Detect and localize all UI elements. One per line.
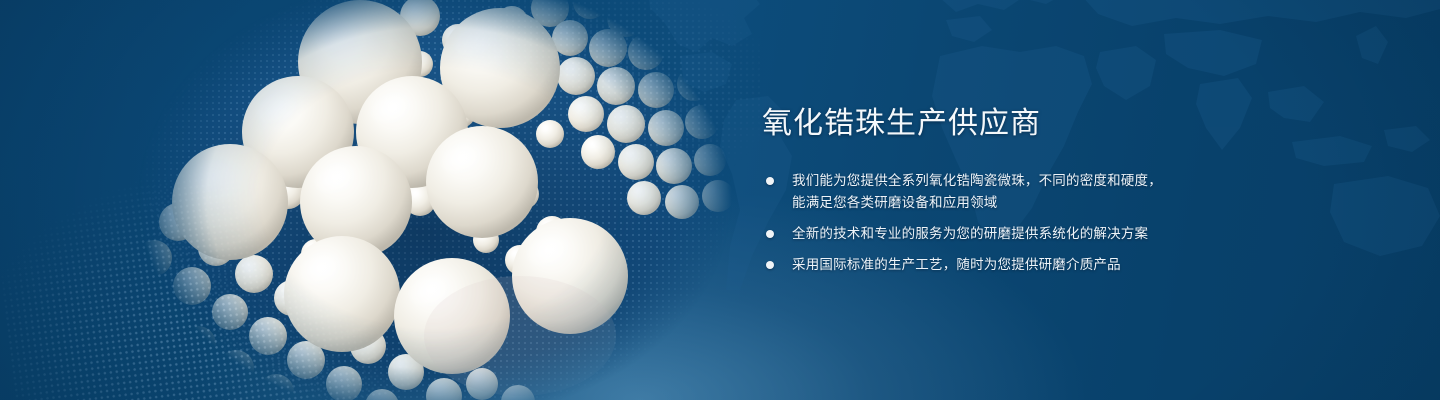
feature-list: 我们能为您提供全系列氧化锆陶瓷微珠，不同的密度和硬度， 能满足您各类研磨设备和应… — [762, 170, 1222, 276]
bullet-dot-icon — [766, 177, 774, 185]
bullet-dot-icon — [766, 230, 774, 238]
list-item-line: 能满足您各类研磨设备和应用领域 — [792, 192, 1222, 214]
list-item: 我们能为您提供全系列氧化锆陶瓷微珠，不同的密度和硬度， 能满足您各类研磨设备和应… — [762, 170, 1222, 214]
background-vignette — [0, 0, 1440, 400]
list-item-line: 全新的技术和专业的服务为您的研磨提供系统化的解决方案 — [792, 223, 1222, 245]
list-item-line: 我们能为您提供全系列氧化锆陶瓷微珠，不同的密度和硬度， — [792, 170, 1222, 192]
list-item-line: 采用国际标准的生产工艺，随时为您提供研磨介质产品 — [792, 254, 1222, 276]
banner-copy: 氧化锆珠生产供应商 我们能为您提供全系列氧化锆陶瓷微珠，不同的密度和硬度， 能满… — [762, 104, 1222, 276]
list-item: 全新的技术和专业的服务为您的研磨提供系统化的解决方案 — [762, 223, 1222, 245]
list-item: 采用国际标准的生产工艺，随时为您提供研磨介质产品 — [762, 254, 1222, 276]
bullet-dot-icon — [766, 261, 774, 269]
hero-banner: 氧化锆珠生产供应商 我们能为您提供全系列氧化锆陶瓷微珠，不同的密度和硬度， 能满… — [0, 0, 1440, 400]
page-title: 氧化锆珠生产供应商 — [762, 104, 1222, 144]
